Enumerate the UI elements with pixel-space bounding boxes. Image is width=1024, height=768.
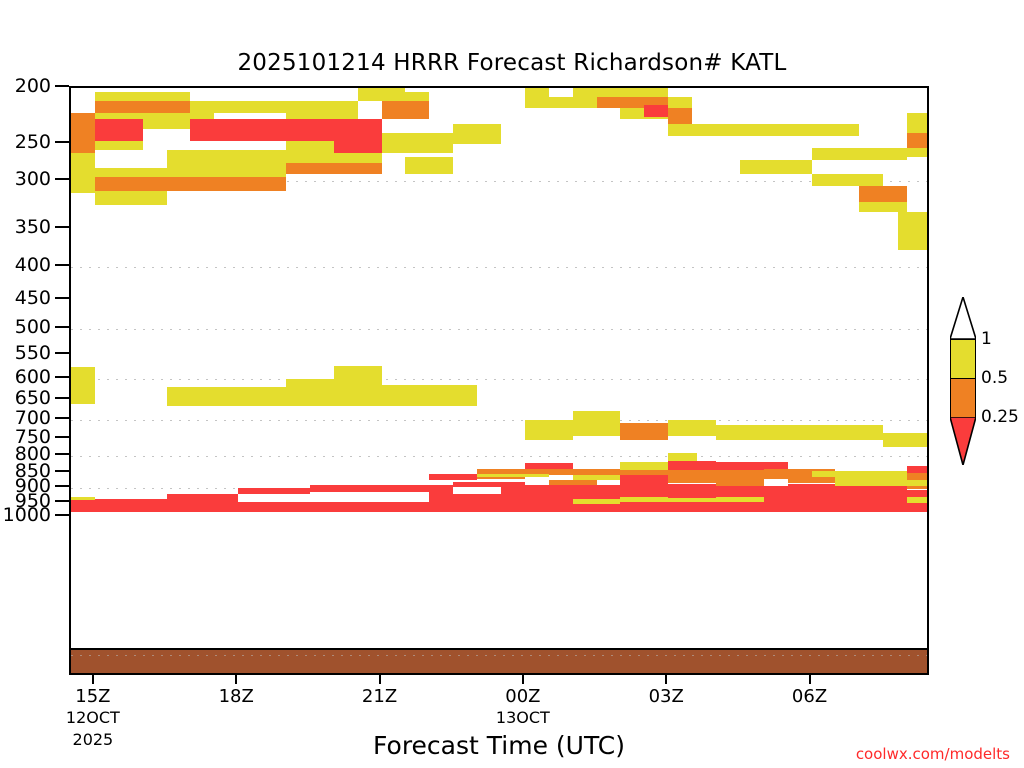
- x-axis-tick: [235, 675, 237, 684]
- heatmap-cell: [95, 191, 167, 205]
- heatmap-cell: [95, 177, 191, 190]
- x-axis-date-label: 12OCT: [66, 708, 120, 727]
- heatmap-cell: [859, 486, 907, 494]
- heatmap-cell: [238, 494, 310, 502]
- heatmap-cell: [95, 119, 143, 140]
- grid-line: [71, 655, 927, 656]
- colorbar-tick-label: 0.5: [981, 368, 1008, 388]
- heatmap-cell: [167, 494, 239, 510]
- heatmap-cell: [620, 475, 668, 482]
- y-axis-tick-label: 400: [15, 254, 51, 276]
- y-axis: 2002503003504004505005506006507007508008…: [0, 86, 69, 648]
- heatmap-cell: [883, 433, 929, 447]
- heatmap-cell: [429, 474, 477, 481]
- y-axis-tick: [55, 436, 69, 438]
- y-axis-tick: [55, 178, 69, 180]
- colorbar-tick-label: 0.25: [981, 407, 1019, 427]
- credit-watermark: coolwx.com/modelts: [856, 745, 1010, 763]
- heatmap-cell: [190, 177, 286, 190]
- heatmap-cell: [95, 113, 143, 120]
- y-axis-tick: [55, 141, 69, 143]
- heatmap-cell: [71, 113, 95, 153]
- x-axis-tick-label: 03Z: [649, 686, 684, 707]
- heatmap-cell: [573, 499, 621, 504]
- y-axis-tick: [55, 226, 69, 228]
- heatmap-cell: [788, 494, 860, 510]
- x-axis-tick-label: 15Z: [75, 686, 110, 707]
- heatmap-cell: [71, 367, 95, 404]
- heatmap-cell: [716, 425, 883, 440]
- heatmap-cell: [859, 186, 907, 202]
- colorbar-extend-max: [950, 297, 976, 339]
- y-axis-tick: [55, 326, 69, 328]
- y-axis-tick: [55, 85, 69, 87]
- heatmap-cell: [620, 497, 668, 502]
- y-axis-tick-label: 600: [15, 366, 51, 388]
- heatmap-cell: [788, 477, 836, 484]
- heatmap-cells: [71, 88, 927, 648]
- heatmap-cell: [620, 462, 668, 469]
- heatmap-cell: [477, 474, 549, 477]
- x-axis-tick: [522, 675, 524, 684]
- x-axis-tick: [665, 675, 667, 684]
- y-axis-tick: [55, 264, 69, 266]
- colorbar[interactable]: 10.50.25: [943, 292, 1021, 482]
- y-axis-tick-label: 250: [15, 131, 51, 153]
- heatmap-cell: [95, 141, 143, 150]
- heatmap-cell: [71, 153, 95, 193]
- heatmap-cell: [95, 101, 191, 112]
- x-axis-tick-label: 21Z: [362, 686, 397, 707]
- heatmap-cell: [644, 105, 668, 117]
- y-axis-tick: [55, 397, 69, 399]
- heatmap-cell: [573, 88, 669, 97]
- heatmap-cell: [668, 461, 716, 470]
- y-axis-tick: [55, 470, 69, 472]
- colorbar-segment[interactable]: [950, 339, 976, 378]
- x-axis-date-label: 13OCT: [496, 708, 550, 727]
- y-axis-tick-label: 1000: [3, 504, 51, 526]
- heatmap-cell: [668, 124, 859, 136]
- y-axis-tick: [55, 417, 69, 419]
- heatmap-cell: [525, 485, 621, 510]
- y-axis-tick-label: 300: [15, 168, 51, 190]
- heatmap-cell: [525, 420, 573, 440]
- heatmap-cell: [190, 119, 333, 140]
- y-axis-tick: [55, 352, 69, 354]
- heatmap-cell: [95, 92, 191, 101]
- heatmap-cell: [71, 510, 929, 512]
- heatmap-cell: [167, 168, 286, 177]
- heatmap-cell: [382, 92, 430, 101]
- heatmap-cell: [812, 471, 908, 476]
- x-axis-tick-label: 18Z: [219, 686, 254, 707]
- chart-page: 2025101214 HRRR Forecast Richardson# KAT…: [0, 0, 1024, 768]
- heatmap-cell: [549, 469, 621, 475]
- heatmap-cell: [310, 492, 429, 503]
- heatmap-cell: [668, 420, 716, 436]
- heatmap-cell: [453, 487, 501, 494]
- y-axis-tick: [55, 485, 69, 487]
- heatmap-cell: [167, 150, 286, 169]
- colorbar-extend-min: [950, 417, 976, 465]
- heatmap-cell: [907, 473, 929, 480]
- heatmap-cell: [286, 163, 382, 174]
- heatmap-cell: [668, 108, 692, 124]
- heatmap-cell: [382, 133, 454, 153]
- heatmap-cell: [907, 490, 929, 498]
- heatmap-cell: [898, 212, 929, 251]
- heatmap-cell: [835, 477, 907, 486]
- heatmap-cell: [382, 385, 478, 406]
- y-axis-tick-label: 500: [15, 316, 51, 338]
- heatmap-cell: [620, 482, 668, 510]
- heatmap-cell: [453, 124, 501, 144]
- y-axis-tick: [55, 297, 69, 299]
- heatmap-cell: [167, 387, 286, 406]
- heatmap-cell: [190, 101, 286, 112]
- chart-title: 2025101214 HRRR Forecast Richardson# KAT…: [0, 50, 1024, 76]
- colorbar-segment[interactable]: [950, 378, 976, 417]
- y-axis-tick: [55, 500, 69, 502]
- y-axis-tick-label: 450: [15, 287, 51, 309]
- heatmap-cell: [334, 366, 382, 406]
- y-axis-tick: [55, 376, 69, 378]
- x-axis-title: Forecast Time (UTC): [69, 731, 929, 760]
- heatmap-cell: [573, 411, 621, 436]
- heatmap-cell: [95, 499, 167, 511]
- heatmap-cell: [405, 157, 453, 173]
- y-axis-tick-label: 550: [15, 342, 51, 364]
- heatmap-cell: [859, 494, 907, 510]
- heatmap-cell: [525, 97, 597, 108]
- x-axis-tick: [379, 675, 381, 684]
- heatmap-cell: [95, 168, 167, 177]
- heatmap-cell: [668, 97, 692, 108]
- colorbar-tick-label: 1: [981, 329, 992, 349]
- y-axis-tick-label: 650: [15, 387, 51, 409]
- heatmap-cell: [668, 477, 716, 484]
- y-axis-tick-label: 350: [15, 216, 51, 238]
- x-axis-tick: [92, 675, 94, 684]
- x-axis-tick-label: 00Z: [505, 686, 540, 707]
- y-axis-tick: [55, 453, 69, 455]
- heatmap-cell: [907, 113, 929, 133]
- x-axis-tick-label: 06Z: [792, 686, 827, 707]
- y-axis-tick: [55, 514, 69, 516]
- heatmap-cell: [286, 379, 334, 406]
- heatmap-cell: [907, 503, 929, 510]
- heatmap-cell: [334, 119, 382, 153]
- heatmap-cell: [668, 453, 697, 462]
- heatmap-cell: [382, 101, 430, 119]
- heatmap-cell: [525, 88, 549, 97]
- heatmap-cell: [907, 133, 929, 148]
- heatmap-cell: [907, 466, 929, 473]
- heatmap-cell: [620, 423, 668, 440]
- heatmap-cell: [859, 202, 907, 212]
- x-axis-tick: [809, 675, 811, 684]
- heatmap-cell: [812, 148, 908, 161]
- heatmap-cell: [740, 160, 812, 173]
- heatmap-cell: [71, 500, 95, 510]
- heatmap-cell: [812, 174, 884, 186]
- heatmap-cell: [716, 497, 764, 502]
- heatmap-cell: [716, 479, 764, 486]
- plot-area: [69, 86, 929, 648]
- heatmap-cell: [668, 498, 716, 503]
- heatmap-cell: [907, 148, 929, 158]
- y-axis-tick-label: 200: [15, 75, 51, 97]
- terrain-band: [69, 648, 929, 675]
- heatmap-cell: [286, 101, 358, 119]
